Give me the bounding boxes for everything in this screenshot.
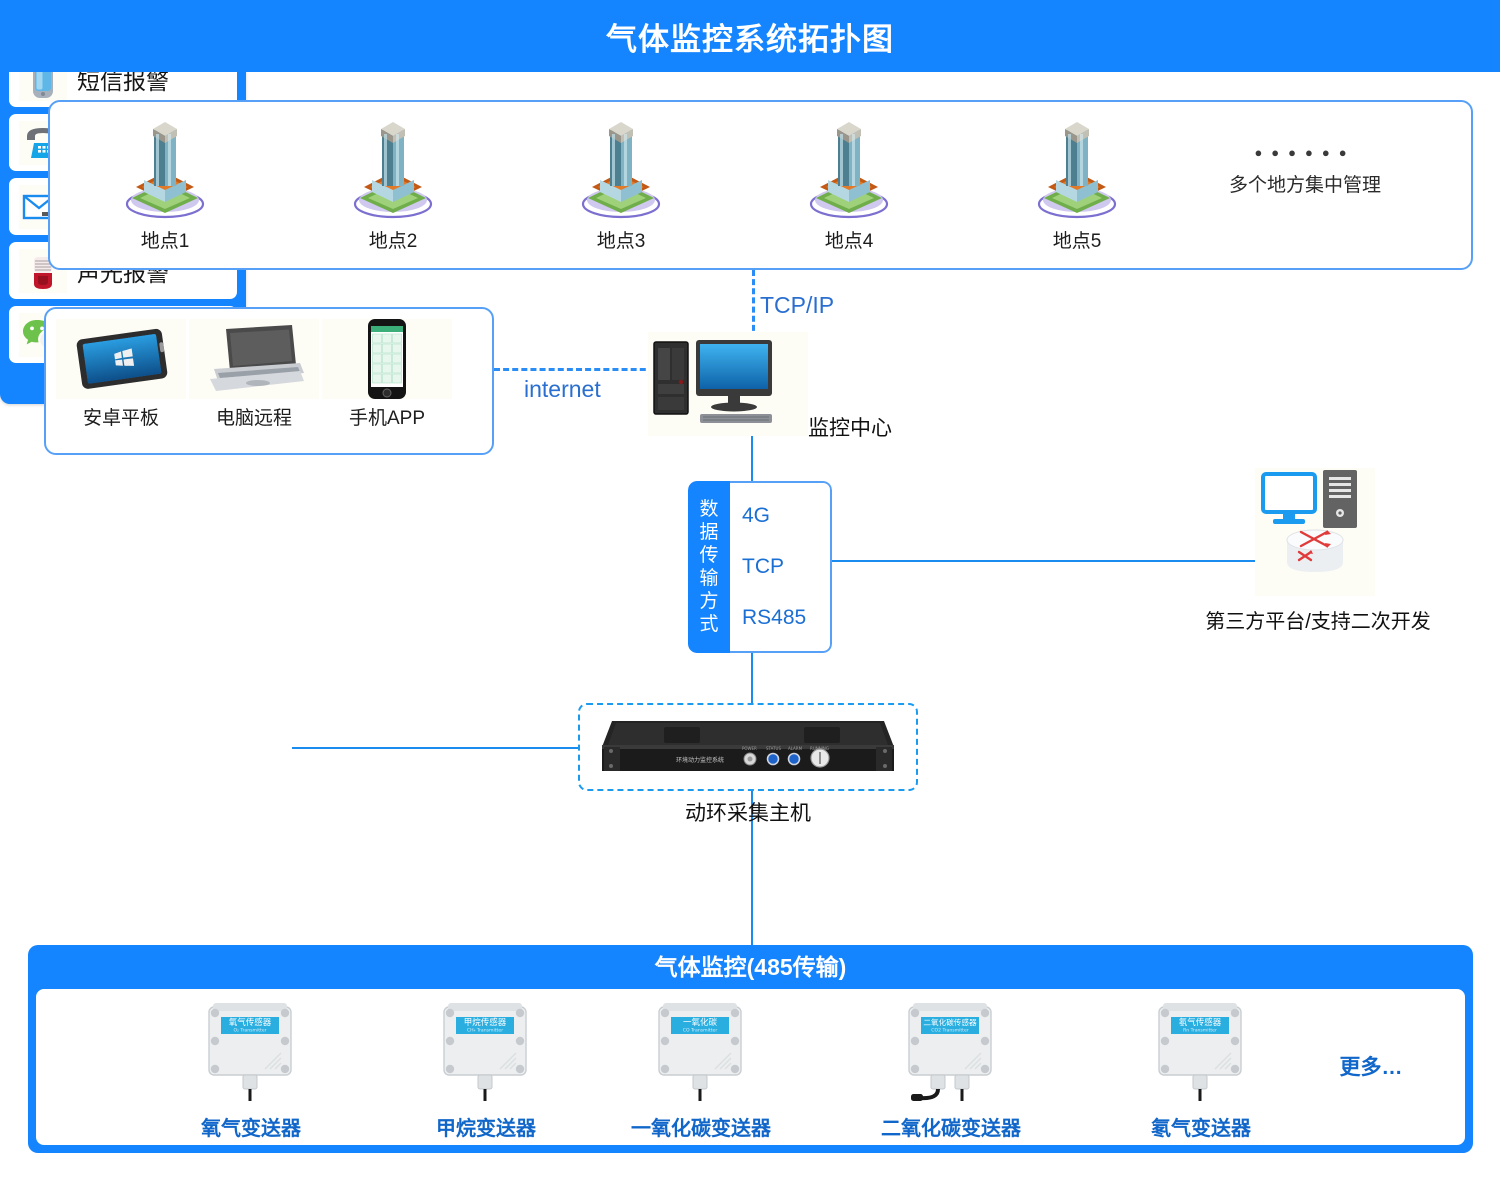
tablet-icon	[69, 322, 173, 396]
monitoring-center-label: 监控中心	[808, 412, 892, 442]
sensor-item-ch4[interactable]: 甲烷传感器 CH₄ Transmitter 甲烷变送器	[381, 997, 591, 1141]
ellipsis-dots: ●●●●●●	[1155, 144, 1455, 162]
site-item[interactable]: 地点2	[318, 112, 468, 253]
client-item-tablet[interactable]: 安卓平板	[56, 319, 186, 430]
connector-internet-dashed	[494, 368, 664, 371]
data-transmission-options: 4G TCP RS485	[730, 481, 832, 653]
gas-sensor-icon: 甲烷传感器 CH₄ Transmitter	[426, 997, 546, 1105]
page-title: 气体监控系统拓扑图	[606, 14, 894, 59]
collector-host-box[interactable]: 环境动力监控系统 POWERSTATUS ALARMRUNNING	[578, 703, 918, 791]
more-sensors-label: 更多…	[1306, 1051, 1436, 1081]
sensor-chip-en: Rn Transmitter	[1183, 1028, 1217, 1034]
connector-label-tcpip: TCP/IP	[760, 292, 834, 319]
connector-datatrans-to-collector	[751, 652, 753, 704]
sensor-item-co[interactable]: 一氧化碳 CO Transmitter 一氧化碳变送器	[596, 997, 806, 1141]
sensor-label: 二氧化碳变送器	[846, 1112, 1056, 1141]
site-label: 地点4	[774, 226, 924, 253]
svg-text:STATUS: STATUS	[766, 746, 781, 751]
laptop-icon-wrap	[189, 319, 319, 399]
gas-sensor-icon: 二氧化碳传感器 CO2 Transmitter	[891, 997, 1011, 1105]
svg-text:POWER: POWER	[742, 746, 757, 751]
gas-monitoring-panel: 气体监控(485传输) 氧气传感器 O₂ Transmitter	[28, 945, 1473, 1153]
more-sites-label: 多个地方集中管理	[1155, 170, 1455, 197]
building-icon	[794, 112, 904, 224]
sensor-chip-cn: 氡气传感器	[1179, 1017, 1222, 1028]
sensor-chip-cn: 氧气传感器	[229, 1017, 272, 1028]
site-item[interactable]: 地点1	[90, 112, 240, 253]
sensor-chip-cn: 一氧化碳	[683, 1017, 718, 1028]
site-label: 地点5	[1002, 226, 1152, 253]
sensor-label: 氧气变送器	[146, 1112, 356, 1141]
monitoring-center[interactable]	[648, 332, 808, 436]
client-item-mobile-app[interactable]: 手机APP	[322, 319, 452, 430]
remote-clients-panel: 安卓平板 电脑远程	[44, 307, 494, 455]
smartphone-icon-wrap	[322, 319, 452, 399]
site-item[interactable]: 地点4	[774, 112, 924, 253]
sensor-item-rn[interactable]: 氡气传感器 Rn Transmitter 氡气变送器	[1096, 997, 1306, 1141]
collector-host-icon: 环境动力监控系统 POWERSTATUS ALARMRUNNING	[598, 717, 898, 779]
sensor-chip-cn: 甲烷传感器	[464, 1017, 507, 1028]
dt-char: 据	[699, 521, 718, 544]
client-item-laptop[interactable]: 电脑远程	[189, 319, 319, 430]
building-icon	[566, 112, 676, 224]
building-icon	[1022, 112, 1132, 224]
page-header: 气体监控系统拓扑图	[0, 0, 1500, 72]
smartphone-icon	[358, 317, 416, 401]
site-item[interactable]: 地点5	[1002, 112, 1152, 253]
third-party-platform[interactable]	[1255, 468, 1375, 596]
connector-alarm-to-collector	[292, 747, 580, 749]
more-sites-note: ●●●●●● 多个地方集中管理	[1155, 144, 1455, 197]
connector-center-to-datatrans	[751, 436, 753, 482]
building-icon	[110, 112, 220, 224]
sensor-chip-en: CH₄ Transmitter	[467, 1028, 503, 1034]
sensor-label: 一氧化碳变送器	[596, 1112, 806, 1141]
sensor-label: 氡气变送器	[1096, 1112, 1306, 1141]
site-label: 地点2	[318, 226, 468, 253]
gas-sensor-icon: 氡气传感器 Rn Transmitter	[1141, 997, 1261, 1105]
dt-char: 输	[699, 567, 718, 590]
dt-char: 数	[699, 498, 718, 521]
client-label: 安卓平板	[56, 403, 186, 430]
building-icon	[338, 112, 448, 224]
gas-sensors-row: 氧气传感器 O₂ Transmitter 氧气变送器	[36, 989, 1465, 1145]
svg-text:ALARM: ALARM	[788, 746, 803, 751]
tablet-icon-wrap	[56, 319, 186, 399]
transmission-option-rs485[interactable]: RS485	[742, 606, 830, 630]
sensor-item-o2[interactable]: 氧气传感器 O₂ Transmitter 氧气变送器	[146, 997, 356, 1141]
client-label: 电脑远程	[189, 403, 319, 430]
gas-sensor-icon: 一氧化碳 CO Transmitter	[641, 997, 761, 1105]
client-label: 手机APP	[322, 403, 452, 430]
connector-datatrans-to-thirdparty	[831, 560, 1265, 562]
gas-sensor-icon: 氧气传感器 O₂ Transmitter	[191, 997, 311, 1105]
dt-char: 方	[699, 590, 718, 613]
third-party-platform-label: 第三方平台/支持二次开发	[1118, 605, 1500, 634]
site-label: 地点1	[90, 226, 240, 253]
site-label: 地点3	[546, 226, 696, 253]
sensor-chip-en: O₂ Transmitter	[233, 1028, 266, 1034]
server-router-icon	[1255, 468, 1375, 596]
sensor-chip-en: CO2 Transmitter	[931, 1028, 969, 1034]
dt-char: 式	[699, 613, 718, 636]
sites-panel: 地点1	[48, 100, 1473, 270]
collector-host-label: 动环采集主机	[578, 797, 918, 827]
transmission-option-4g[interactable]: 4G	[742, 504, 830, 528]
sensor-label: 甲烷变送器	[381, 1112, 591, 1141]
sensor-item-co2[interactable]: 二氧化碳传感器 CO2 Transmitter 二氧化碳变送器	[846, 997, 1056, 1141]
svg-text:环境动力监控系统: 环境动力监控系统	[676, 756, 724, 764]
desktop-computer-icon	[648, 332, 808, 436]
transmission-option-tcp[interactable]: TCP	[742, 555, 830, 579]
data-transmission-box: 数 据 传 输 方 式 4G TCP RS485	[688, 481, 832, 653]
connector-label-internet: internet	[524, 376, 601, 403]
laptop-icon	[200, 321, 308, 397]
connector-tcpip-dashed	[752, 270, 755, 340]
sensor-chip-cn: 二氧化碳传感器	[923, 1017, 977, 1027]
site-item[interactable]: 地点3	[546, 112, 696, 253]
gas-panel-title: 气体监控(485传输)	[28, 945, 1473, 989]
topology-diagram: 气体监控系统拓扑图 TCP/IP internet	[0, 0, 1500, 1200]
svg-text:RUNNING: RUNNING	[810, 746, 829, 751]
sensor-chip-en: CO Transmitter	[683, 1028, 718, 1034]
dt-char: 传	[699, 544, 718, 567]
data-transmission-vertical-label: 数 据 传 输 方 式	[688, 481, 730, 653]
